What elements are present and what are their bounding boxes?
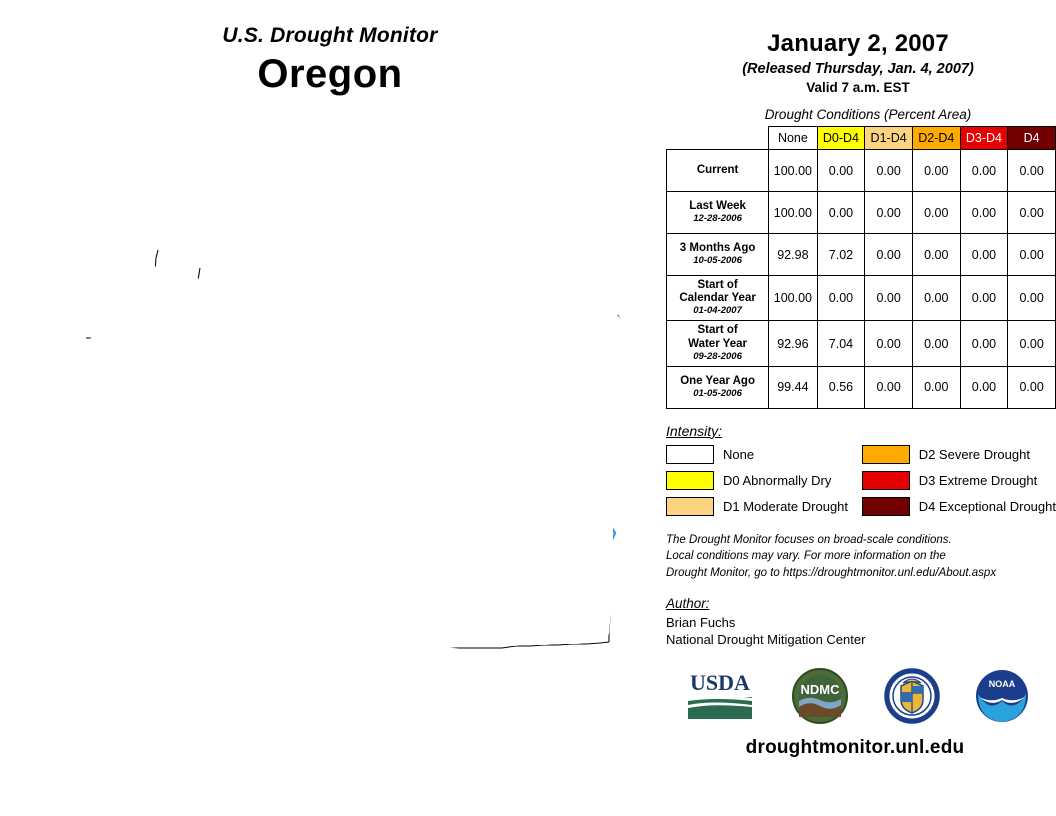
table-body: Current100.000.000.000.000.000.00Last We… <box>667 150 1056 409</box>
cell-none: 92.96 <box>769 321 817 366</box>
table-corner-cell <box>667 127 769 150</box>
legend-swatch <box>862 471 910 490</box>
cell-d2-d4: 0.00 <box>912 150 960 192</box>
cell-d0-d4: 0.56 <box>817 366 865 408</box>
cell-d0-d4: 7.02 <box>817 234 865 276</box>
column-header-d0-d4: D0-D4 <box>817 127 865 150</box>
cell-d4: 0.00 <box>1008 366 1056 408</box>
legend-label: D1 Moderate Drought <box>723 499 848 514</box>
row-label-date: 12-28-2006 <box>669 214 766 225</box>
author-name: Brian Fuchs <box>666 614 1056 632</box>
cell-none: 100.00 <box>769 276 817 321</box>
map-svg[interactable] <box>24 228 644 698</box>
author-label: Author: <box>666 596 1056 611</box>
cell-d3-d4: 0.00 <box>960 276 1008 321</box>
oregon-drought-map[interactable] <box>24 228 644 698</box>
cell-d1-d4: 0.00 <box>865 276 913 321</box>
table-row: Start ofWater Year09-28-200692.967.040.0… <box>667 321 1056 366</box>
disclaimer-text: The Drought Monitor focuses on broad-sca… <box>666 532 1056 582</box>
cell-d2-d4: 0.00 <box>912 234 960 276</box>
legend-item: D2 Severe Drought <box>862 445 1056 464</box>
logo-row: USDA NDMC <box>666 667 1046 725</box>
cell-d0-d4: 0.00 <box>817 192 865 234</box>
table-row: 3 Months Ago10-05-200692.987.020.000.000… <box>667 234 1056 276</box>
release-date: (Released Thursday, Jan. 4, 2007) <box>660 61 1056 77</box>
cell-d2-d4: 0.00 <box>912 276 960 321</box>
cell-d0-d4: 7.04 <box>817 321 865 366</box>
valid-time: Valid 7 a.m. EST <box>660 80 1056 95</box>
legend-swatch <box>666 497 714 516</box>
row-label: One Year Ago01-05-2006 <box>667 366 769 408</box>
column-header-d4: D4 <box>1008 127 1056 150</box>
cell-d1-d4: 0.00 <box>865 192 913 234</box>
legend-item: D3 Extreme Drought <box>862 471 1056 490</box>
cell-d1-d4: 0.00 <box>865 366 913 408</box>
cell-d4: 0.00 <box>1008 192 1056 234</box>
cell-none: 99.44 <box>769 366 817 408</box>
legend-swatch <box>862 497 910 516</box>
legend-item: D0 Abnormally Dry <box>666 471 862 490</box>
table-caption: Drought Conditions (Percent Area) <box>680 107 1056 122</box>
page-subtitle: U.S. Drought Monitor <box>0 24 660 48</box>
disclaimer-line-2: Local conditions may vary. For more info… <box>666 548 1056 565</box>
legend-item: None <box>666 445 862 464</box>
row-label-date: 01-05-2006 <box>669 389 766 400</box>
cell-d1-d4: 0.00 <box>865 150 913 192</box>
cell-d0-d4: 0.00 <box>817 276 865 321</box>
cell-d4: 0.00 <box>1008 150 1056 192</box>
disclaimer-line-1: The Drought Monitor focuses on broad-sca… <box>666 532 1056 549</box>
row-label: Current <box>667 150 769 192</box>
row-label: Start ofWater Year09-28-2006 <box>667 321 769 366</box>
table-row: Last Week12-28-2006100.000.000.000.000.0… <box>667 192 1056 234</box>
svg-text:NOAA: NOAA <box>988 679 1015 689</box>
column-header-d1-d4: D1-D4 <box>865 127 913 150</box>
cell-d2-d4: 0.00 <box>912 192 960 234</box>
intensity-legend: Intensity: NoneD0 Abnormally DryD1 Moder… <box>666 423 1056 516</box>
cell-d2-d4: 0.00 <box>912 366 960 408</box>
row-label-date: 01-04-2007 <box>669 306 766 317</box>
cell-d4: 0.00 <box>1008 276 1056 321</box>
legend-column-left: NoneD0 Abnormally DryD1 Moderate Drought <box>666 445 862 516</box>
table-row: One Year Ago01-05-200699.440.560.000.000… <box>667 366 1056 408</box>
cell-d3-d4: 0.00 <box>960 234 1008 276</box>
row-label: Start ofCalendar Year01-04-2007 <box>667 276 769 321</box>
noaa-logo: NOAA <box>973 667 1031 725</box>
legend-label: D3 Extreme Drought <box>919 473 1038 488</box>
row-label-date: 09-28-2006 <box>669 352 766 363</box>
cell-d1-d4: 0.00 <box>865 321 913 366</box>
cell-d2-d4: 0.00 <box>912 321 960 366</box>
legend-item: D1 Moderate Drought <box>666 497 862 516</box>
disclaimer-line-3: Drought Monitor, go to https://droughtmo… <box>666 565 1056 582</box>
site-url[interactable]: droughtmonitor.unl.edu <box>660 737 1050 759</box>
cell-d1-d4: 0.00 <box>865 234 913 276</box>
table-header-row: None D0-D4 D1-D4 D2-D4 D3-D4 D4 <box>667 127 1056 150</box>
legend-label: D4 Exceptional Drought <box>919 499 1056 514</box>
cell-d0-d4: 0.00 <box>817 150 865 192</box>
column-header-d2-d4: D2-D4 <box>912 127 960 150</box>
report-date: January 2, 2007 <box>660 30 1056 58</box>
row-label-date: 10-05-2006 <box>669 256 766 267</box>
cell-none: 92.98 <box>769 234 817 276</box>
svg-text:NDMC: NDMC <box>800 682 840 697</box>
table-row: Current100.000.000.000.000.000.00 <box>667 150 1056 192</box>
page-title: Oregon <box>0 52 660 97</box>
cell-d3-d4: 0.00 <box>960 192 1008 234</box>
right-column: January 2, 2007 (Released Thursday, Jan.… <box>660 0 1056 816</box>
table-row: Start ofCalendar Year01-04-2007100.000.0… <box>667 276 1056 321</box>
cell-d3-d4: 0.00 <box>960 321 1008 366</box>
author-block: Author: Brian Fuchs National Drought Mit… <box>666 596 1056 649</box>
legend-title: Intensity: <box>666 423 1056 439</box>
column-header-d3-d4: D3-D4 <box>960 127 1008 150</box>
cell-none: 100.00 <box>769 192 817 234</box>
commerce-seal <box>882 667 942 725</box>
cell-none: 100.00 <box>769 150 817 192</box>
author-organization: National Drought Mitigation Center <box>666 631 1056 649</box>
legend-label: D0 Abnormally Dry <box>723 473 831 488</box>
column-header-none: None <box>769 127 817 150</box>
cell-d3-d4: 0.00 <box>960 150 1008 192</box>
usda-logo: USDA <box>682 667 758 725</box>
date-block: January 2, 2007 (Released Thursday, Jan.… <box>660 0 1056 95</box>
drought-conditions-table: None D0-D4 D1-D4 D2-D4 D3-D4 D4 Current1… <box>666 126 1056 409</box>
legend-item: D4 Exceptional Drought <box>862 497 1056 516</box>
legend-swatch <box>666 471 714 490</box>
cell-d4: 0.00 <box>1008 234 1056 276</box>
ndmc-logo: NDMC <box>789 667 851 725</box>
legend-swatch <box>862 445 910 464</box>
legend-label: D2 Severe Drought <box>919 447 1030 462</box>
state-outline <box>43 247 623 660</box>
legend-label: None <box>723 447 754 462</box>
title-block: U.S. Drought Monitor Oregon <box>0 24 660 97</box>
cell-d3-d4: 0.00 <box>960 366 1008 408</box>
row-label: Last Week12-28-2006 <box>667 192 769 234</box>
cell-d4: 0.00 <box>1008 321 1056 366</box>
row-label: 3 Months Ago10-05-2006 <box>667 234 769 276</box>
legend-column-right: D2 Severe DroughtD3 Extreme DroughtD4 Ex… <box>862 445 1056 516</box>
legend-swatch <box>666 445 714 464</box>
svg-text:USDA: USDA <box>690 670 750 695</box>
